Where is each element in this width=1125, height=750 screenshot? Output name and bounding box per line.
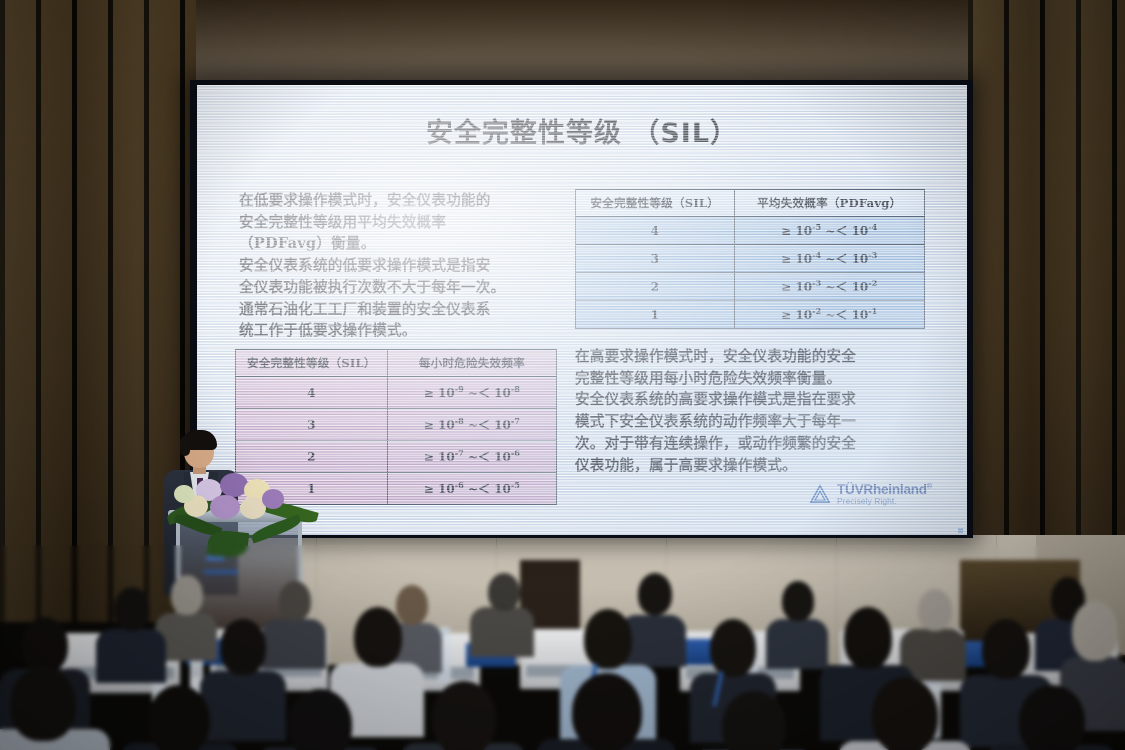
table-header-row: 安全完整性等级（SIL） 每小时危险失效频率: [236, 350, 557, 377]
header-sil-level: 安全完整性等级（SIL）: [576, 190, 735, 217]
audience-member: [256, 689, 384, 750]
table-row: 2 ≥ 10-3 ~＜ 10-2: [576, 273, 925, 301]
cell-range: ≥ 10-4 ~＜ 10-3: [734, 245, 925, 273]
table-pdfavg: 安全完整性等级（SIL） 平均失效概率（PDFavg） 4 ≥ 10-5 ~＜ …: [575, 189, 925, 329]
table-row: 4 ≥ 10-5 ~＜ 10-4: [576, 217, 925, 245]
high-demand-paragraph: 在高要求操作模式时，安全仪表功能的安全 完整性等级用每小时危险失效频率衡量。 安…: [575, 347, 925, 477]
flower-arrangement: [166, 465, 316, 555]
high-demand-line-4: 模式下安全仪表系统的动作频率大于每年一: [575, 412, 925, 433]
header-hourly-rate: 每小时危险失效频率: [387, 350, 556, 377]
low-demand-line-7: 统工作于低要求操作模式。: [239, 321, 559, 342]
audience-member: [0, 667, 110, 750]
cell-range: ≥ 10-3 ~＜ 10-2: [734, 273, 925, 301]
table-row: 3 ≥ 10-8 ~＜ 10-7: [236, 409, 557, 441]
high-demand-line-3: 安全仪表系统的高要求操作模式是指在要求: [575, 390, 925, 411]
tuv-brand-name: TÜVRheinland®: [837, 483, 932, 497]
screen-corner-marker: [958, 528, 963, 533]
cell-range: ≥ 10-8 ~＜ 10-7: [387, 409, 556, 441]
cell-sil: 4: [576, 217, 735, 245]
low-demand-paragraph: 在低要求操作模式时，安全仪表功能的 安全完整性等级用平均失效概率 （PDFavg…: [239, 191, 559, 343]
cell-sil: 4: [236, 377, 388, 409]
slide-title: 安全完整性等级 （SIL）: [197, 111, 967, 150]
cell-range: ≥ 10-6 ~＜ 10-5: [387, 473, 556, 505]
cell-sil: 3: [236, 409, 388, 441]
low-demand-line-2: 安全完整性等级用平均失效概率: [239, 213, 559, 234]
header-sil-level: 安全完整性等级（SIL）: [236, 350, 388, 377]
cell-range: ≥ 10-9 ~＜ 10-8: [387, 377, 556, 409]
low-demand-line-5: 全仪表功能被执行次数不大于每年一次。: [239, 278, 559, 299]
wall-upper-band: [196, 0, 968, 86]
low-demand-line-6: 通常石油化工工厂和装置的安全仪表系: [239, 300, 559, 321]
high-demand-line-6: 仪表功能，属于高要求操作模式。: [575, 456, 925, 477]
presenter-hair-side: [180, 436, 190, 456]
low-demand-line-4: 安全仪表系统的低要求操作模式是指安: [239, 256, 559, 277]
tuv-triangle-icon: [809, 483, 831, 505]
header-pdfavg: 平均失效概率（PDFavg）: [734, 190, 925, 217]
high-demand-line-2: 完整性等级用每小时危险失效频率衡量。: [575, 369, 925, 390]
high-demand-line-5: 次。对于带有连续操作，或动作频繁的安全: [575, 434, 925, 455]
audience: [0, 555, 1125, 750]
audience-member: [470, 565, 534, 645]
high-demand-line-1: 在高要求操作模式时，安全仪表功能的安全: [575, 347, 925, 368]
wood-sheen-right: [968, 0, 1125, 600]
audience-member: [985, 685, 1117, 750]
photo-scene: 安全完整性等级 （SIL） 在低要求操作模式时，安全仪表功能的 安全完整性等级用…: [0, 0, 1125, 750]
low-demand-line-1: 在低要求操作模式时，安全仪表功能的: [239, 191, 559, 212]
cell-sil: 3: [576, 245, 735, 273]
cell-range: ≥ 10-5 ~＜ 10-4: [734, 217, 925, 245]
cell-range: ≥ 10-2 ~＜ 10-1: [734, 301, 925, 329]
audience-member: [536, 673, 676, 750]
tuv-rheinland-logo: TÜVRheinland® Precisely Right.: [809, 477, 951, 511]
audience-member: [838, 677, 972, 750]
cell-sil: 1: [576, 301, 735, 329]
audience-member: [400, 681, 526, 750]
tuv-wordmark: TÜVRheinland® Precisely Right.: [837, 483, 932, 506]
wall-wood-right: [968, 0, 1125, 600]
audience-member: [96, 583, 166, 669]
audience-member: [690, 691, 816, 750]
audience-member: [120, 685, 240, 750]
tuv-tagline: Precisely Right.: [837, 497, 932, 506]
table-header-row: 安全完整性等级（SIL） 平均失效概率（PDFavg）: [576, 190, 925, 217]
cell-sil: 2: [576, 273, 735, 301]
low-demand-line-3: （PDFavg）衡量。: [239, 234, 559, 255]
table-row: 3 ≥ 10-4 ~＜ 10-3: [576, 245, 925, 273]
table-row: 4 ≥ 10-9 ~＜ 10-8: [236, 377, 557, 409]
table-row: 1 ≥ 10-2 ~＜ 10-1: [576, 301, 925, 329]
cell-range: ≥ 10-7 ~＜ 10-6: [387, 441, 556, 473]
